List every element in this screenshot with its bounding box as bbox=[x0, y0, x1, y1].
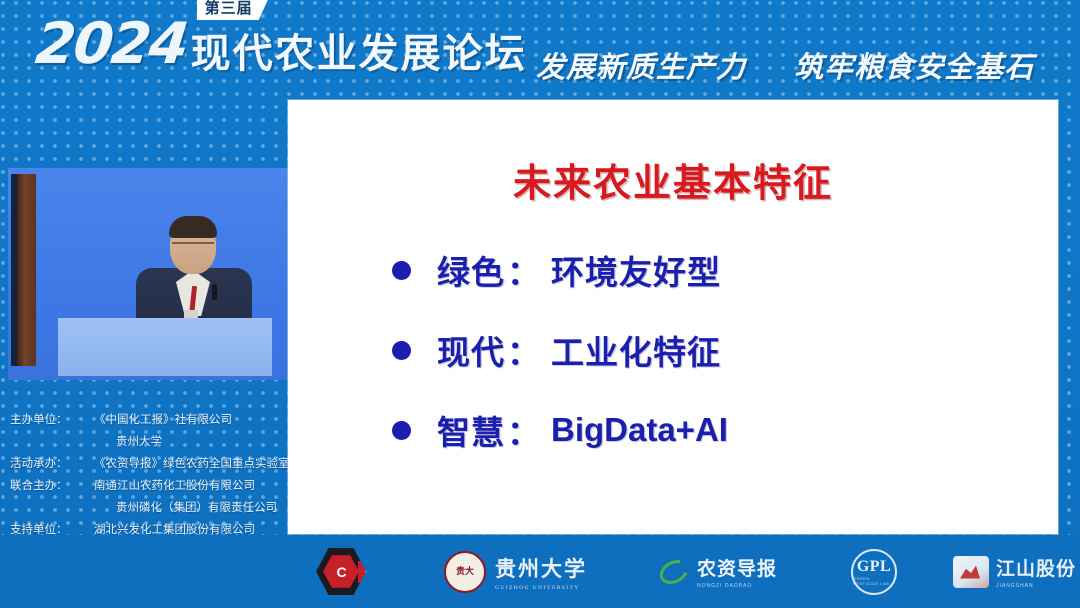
logo-guizhou-university: 贵大 贵州大学 GUIZHOU UNIVERSITY bbox=[444, 551, 587, 593]
bullet-key: 智慧 bbox=[437, 406, 505, 454]
organizer-label: 活动承办： bbox=[10, 452, 94, 474]
ccin-hexagon-icon: C IN bbox=[316, 547, 366, 597]
gzu-name-en: GUIZHOU UNIVERSITY bbox=[495, 585, 587, 591]
slogan-right: 筑牢粮食安全基石 bbox=[794, 50, 1034, 84]
forum-title-block: 第三届 现代农业发展论坛 bbox=[191, 34, 527, 75]
sponsor-footer-bar: C IN 贵大 贵州大学 GUIZHOU UNIVERSITY 农资导报 NON… bbox=[0, 535, 1080, 608]
gpl-circle-icon: GPL GREEN PESTICIDE LAB bbox=[851, 549, 897, 595]
podium-microphone bbox=[212, 284, 217, 300]
presentation-screenshot: 2024 第三届 现代农业发展论坛 发展新质生产力 筑牢粮食安全基石 主办单位： bbox=[0, 0, 1080, 608]
bullet-value: 环境友好型 bbox=[551, 246, 721, 294]
organizer-label bbox=[10, 496, 94, 518]
bullet-colon: ： bbox=[507, 326, 541, 374]
organizer-label bbox=[10, 430, 94, 452]
bullet-dot-icon bbox=[392, 421, 411, 440]
list-item: 智慧 ： BigData+AI bbox=[392, 390, 1018, 470]
nongzi-name-en: NONGZI DAOBAO bbox=[697, 583, 777, 589]
bullet-colon: ： bbox=[507, 406, 541, 454]
event-slogan: 发展新质生产力 筑牢粮食安全基石 bbox=[536, 44, 1034, 86]
slide-watermark: 微信公众号：农业科技侠数字与智慧农业 bbox=[931, 516, 1058, 534]
sponsor-logo-strip: C IN 贵大 贵州大学 GUIZHOU UNIVERSITY 农资导报 NON… bbox=[300, 535, 1080, 608]
organizer-label: 主办单位： bbox=[10, 408, 94, 430]
speaker-glasses bbox=[172, 242, 214, 251]
bullet-dot-icon bbox=[392, 261, 411, 280]
gpl-name: GPL bbox=[857, 558, 891, 576]
logo-ccin: C IN bbox=[316, 547, 366, 597]
jiangshan-text-block: 江山股份 JIANGSHAN bbox=[996, 554, 1076, 589]
organizer-value: 《中国化工报》社有限公司 bbox=[94, 408, 288, 430]
stage-wood-pillar bbox=[17, 174, 36, 366]
speaker-hair bbox=[169, 216, 217, 238]
gzu-name-cn: 贵州大学 bbox=[495, 553, 587, 583]
organizer-value: 南通江山农药化工股份有限公司 bbox=[94, 474, 288, 496]
list-item: 现代 ： 工业化特征 bbox=[392, 310, 1018, 390]
presentation-slide[interactable]: 未来农业基本特征 绿色 ： 环境友好型 现代 ： 工业化特征 智慧 ： BigD… bbox=[288, 100, 1058, 534]
nongzi-leaf-icon bbox=[656, 555, 693, 589]
jiangshan-name-en: JIANGSHAN bbox=[996, 583, 1076, 589]
organizer-value: 《农资导报》绿色农药全国重点实验室 bbox=[94, 452, 290, 474]
gzu-text-block: 贵州大学 GUIZHOU UNIVERSITY bbox=[495, 553, 587, 591]
bullet-colon: ： bbox=[507, 246, 541, 294]
organizer-value: 贵州磷化（集团）有限责任公司 bbox=[94, 496, 288, 518]
gzu-seal-icon: 贵大 bbox=[444, 551, 486, 593]
organizer-row: 联合主办： 南通江山农药化工股份有限公司 bbox=[10, 474, 288, 496]
forum-title: 现代农业发展论坛 bbox=[191, 34, 527, 74]
organizer-credits: 主办单位： 《中国化工报》社有限公司 贵州大学 活动承办： 《农资导报》绿色农药… bbox=[10, 408, 288, 540]
organizer-row: 主办单位： 《中国化工报》社有限公司 bbox=[10, 408, 288, 430]
gpl-subtitle: GREEN PESTICIDE LAB bbox=[853, 576, 895, 586]
event-brand-lockup: 2024 第三届 现代农业发展论坛 bbox=[36, 16, 527, 75]
event-header-banner: 2024 第三届 现代农业发展论坛 发展新质生产力 筑牢粮食安全基石 bbox=[0, 0, 1080, 100]
slide-title: 未来农业基本特征 bbox=[288, 152, 1058, 207]
jiangshan-name-cn: 江山股份 bbox=[996, 554, 1076, 581]
organizer-row: 活动承办： 《农资导报》绿色农药全国重点实验室 bbox=[10, 452, 288, 474]
nongzi-name-cn: 农资导报 bbox=[697, 554, 777, 581]
bullet-dot-icon bbox=[392, 341, 411, 360]
slide-bullet-list: 绿色 ： 环境友好型 现代 ： 工业化特征 智慧 ： BigData+AI bbox=[392, 230, 1018, 470]
bullet-value: BigData+AI bbox=[551, 411, 728, 449]
bullet-key: 绿色 bbox=[437, 246, 505, 294]
organizer-value: 贵州大学 bbox=[94, 430, 288, 452]
nongzi-text-block: 农资导报 NONGZI DAOBAO bbox=[697, 554, 777, 589]
logo-gpl: GPL GREEN PESTICIDE LAB bbox=[851, 549, 897, 595]
logo-jiangshan: 江山股份 JIANGSHAN bbox=[953, 554, 1076, 589]
slogan-left: 发展新质生产力 bbox=[536, 50, 746, 84]
edition-badge: 第三届 bbox=[197, 0, 269, 20]
event-year: 2024 bbox=[33, 16, 190, 75]
podium bbox=[58, 318, 272, 376]
logo-nongzi-daobao: 农资导报 NONGZI DAOBAO bbox=[659, 554, 777, 589]
speaker-video-feed[interactable] bbox=[8, 168, 288, 380]
bullet-key: 现代 bbox=[437, 326, 505, 374]
organizer-label: 联合主办： bbox=[10, 474, 94, 496]
organizer-row: 贵州磷化（集团）有限责任公司 bbox=[10, 496, 288, 518]
jiangshan-mountain-icon bbox=[953, 556, 989, 588]
ccin-badge: IN bbox=[358, 561, 384, 583]
list-item: 绿色 ： 环境友好型 bbox=[392, 230, 1018, 310]
organizer-row: 贵州大学 bbox=[10, 430, 288, 452]
bullet-value: 工业化特征 bbox=[551, 326, 721, 374]
ccin-mark: C bbox=[323, 554, 359, 590]
